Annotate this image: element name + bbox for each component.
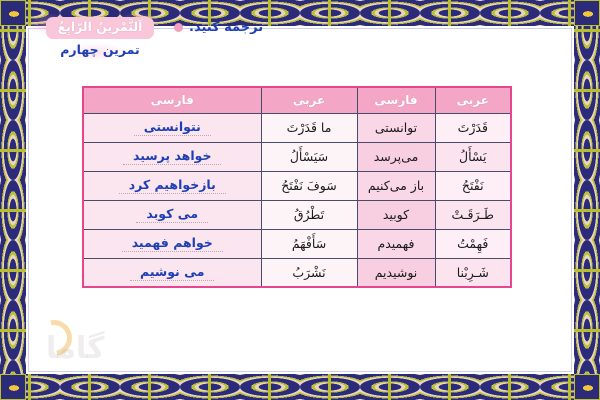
cell-arabic-1: قَدَرْتَ xyxy=(435,113,511,142)
cell-persian-1: نوشیدیم xyxy=(357,258,435,287)
answer-text: می نوشیم xyxy=(130,264,214,281)
cell-arabic-1: فَهِمْتُ xyxy=(435,229,511,258)
exercise-title-block: اَلتَّمْرينُ الرّابِعُ تمرین چهارم xyxy=(34,16,166,57)
table-header-row: عربی فارسی عربی فارسی xyxy=(83,87,511,113)
page-canvas: اَلتَّمْرينُ الرّابِعُ تمرین چهارم ترجمه… xyxy=(0,0,600,400)
watermark-text: گاما xyxy=(46,331,105,366)
cell-answer-blank[interactable]: خواهد پرسید xyxy=(83,142,261,171)
answer-text: بازخواهیم کرد xyxy=(119,177,226,194)
answer-text: می کوبد xyxy=(136,206,208,223)
cell-answer-blank[interactable]: نتوانستی xyxy=(83,113,261,142)
column-header-arabic-2: عربی xyxy=(261,87,357,113)
answer-text: خواهد پرسید xyxy=(123,148,221,165)
cell-answer-blank[interactable]: می کوبد xyxy=(83,200,261,229)
instruction-row: ترجمه کنید. xyxy=(174,20,263,35)
answer-text: خواهم فهمید xyxy=(122,235,223,252)
ornamental-border-left xyxy=(0,0,26,400)
table-row: نَفْتَحُ باز می‌کنیم سَوفَ نَفْتَحُ بازخ… xyxy=(83,171,511,200)
table-row: قَدَرْتَ توانستی ما قَدَرْتَ نتوانستی xyxy=(83,113,511,142)
column-header-persian-1: فارسی xyxy=(357,87,435,113)
table-row: شَـرِبْنا نوشیدیم نَشْرَبُ می نوشیم xyxy=(83,258,511,287)
instruction-text: ترجمه کنید. xyxy=(189,20,263,35)
column-header-persian-2: فارسی xyxy=(83,87,261,113)
corner-medallion-bottom-right xyxy=(574,374,600,400)
cell-persian-1: توانستی xyxy=(357,113,435,142)
cell-arabic-2: سَأَفْهَمُ xyxy=(261,229,357,258)
corner-medallion-top-left xyxy=(0,0,26,26)
cell-persian-1: کوبید xyxy=(357,200,435,229)
table-row: طَـرَقَـتْ کوبید تَطْرُقُ می کوبد xyxy=(83,200,511,229)
exercise-table: عربی فارسی عربی فارسی قَدَرْتَ توانستی م… xyxy=(82,86,512,288)
table-body: قَدَرْتَ توانستی ما قَدَرْتَ نتوانستی يَ… xyxy=(83,113,511,287)
exercise-title-persian: تمرین چهارم xyxy=(34,42,166,57)
column-header-arabic-1: عربی xyxy=(435,87,511,113)
corner-medallion-top-right xyxy=(574,0,600,26)
cell-arabic-2: نَشْرَبُ xyxy=(261,258,357,287)
cell-arabic-2: سَيَسْأَلُ xyxy=(261,142,357,171)
ornamental-border-bottom xyxy=(0,374,600,400)
cell-answer-blank[interactable]: خواهم فهمید xyxy=(83,229,261,258)
table-row: يَسْأَلُ می‌پرسد سَيَسْأَلُ خواهد پرسید xyxy=(83,142,511,171)
cell-persian-1: باز می‌کنیم xyxy=(357,171,435,200)
cell-answer-blank[interactable]: می نوشیم xyxy=(83,258,261,287)
bullet-dot-icon xyxy=(174,23,183,32)
corner-medallion-bottom-left xyxy=(0,374,26,400)
cell-arabic-2: ما قَدَرْتَ xyxy=(261,113,357,142)
cell-persian-1: فهمیدم xyxy=(357,229,435,258)
table-row: فَهِمْتُ فهمیدم سَأَفْهَمُ خواهم فهمید xyxy=(83,229,511,258)
cell-arabic-1: يَسْأَلُ xyxy=(435,142,511,171)
cell-arabic-2: سَوفَ نَفْتَحُ xyxy=(261,171,357,200)
answer-text: نتوانستی xyxy=(134,119,211,136)
cell-persian-1: می‌پرسد xyxy=(357,142,435,171)
ornamental-border-right xyxy=(574,0,600,400)
cell-arabic-1: شَـرِبْنا xyxy=(435,258,511,287)
exercise-title-arabic: اَلتَّمْرينُ الرّابِعُ xyxy=(46,17,155,39)
exercise-table-wrapper: عربی فارسی عربی فارسی قَدَرْتَ توانستی م… xyxy=(84,86,512,288)
cell-arabic-2: تَطْرُقُ xyxy=(261,200,357,229)
exercise-header: اَلتَّمْرينُ الرّابِعُ تمرین چهارم ترجمه… xyxy=(34,16,566,70)
watermark-swoosh-icon xyxy=(29,313,79,363)
cell-answer-blank[interactable]: بازخواهیم کرد xyxy=(83,171,261,200)
cell-arabic-1: نَفْتَحُ xyxy=(435,171,511,200)
cell-arabic-1: طَـرَقَـتْ xyxy=(435,200,511,229)
